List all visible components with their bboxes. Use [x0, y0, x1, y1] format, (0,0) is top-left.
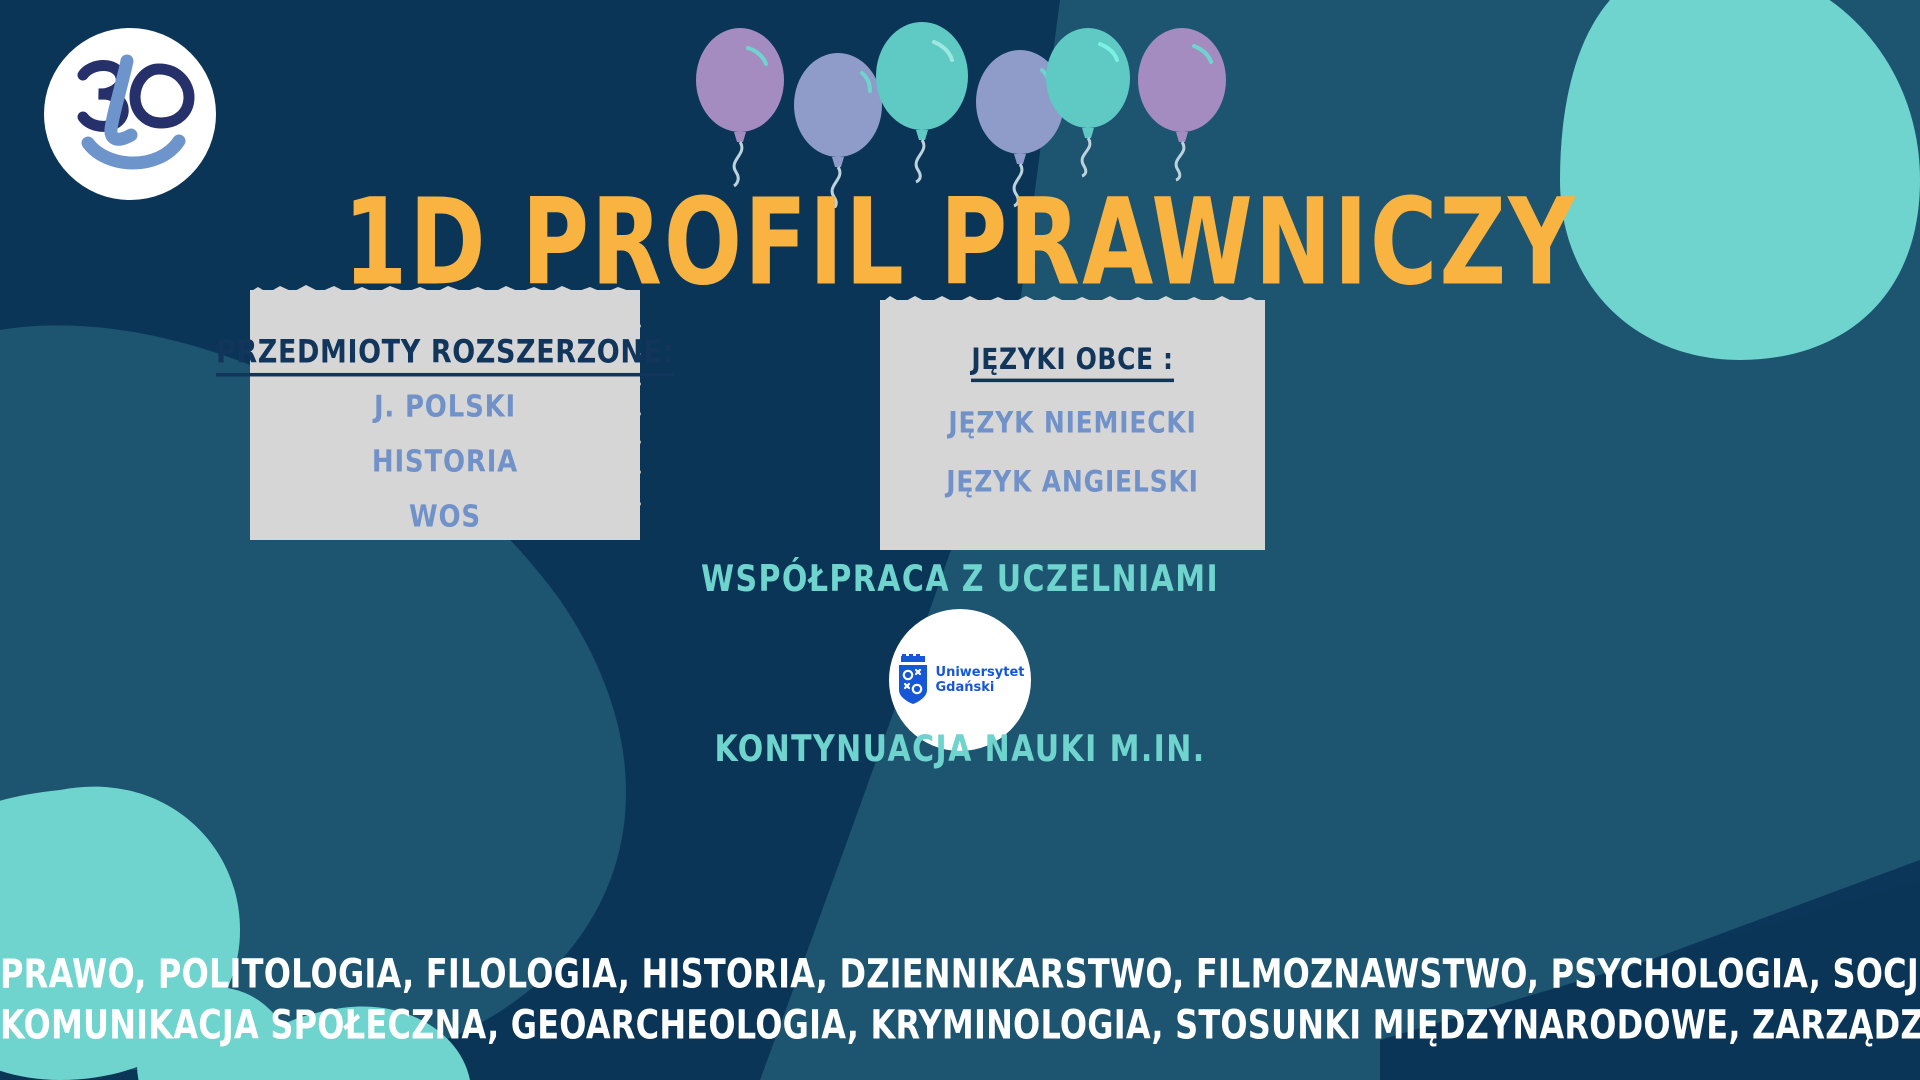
- university-name-line2: Gdański: [936, 680, 1025, 695]
- school-logo: [44, 28, 216, 200]
- balloon-teal-1: [876, 22, 968, 182]
- school-logo-icon: [55, 39, 205, 189]
- card-foreign-languages-list: JĘZYK NIEMIECKI JĘZYK ANGIELSKI: [946, 408, 1198, 526]
- continuation-line-1: PRAWO, POLITOLOGIA, FILOLOGIA, HISTORIA,…: [0, 950, 1920, 997]
- university-name-line1: Uniwersytet: [936, 665, 1025, 680]
- card-extended-subjects-list: J. POLSKI HISTORIA WOS: [372, 392, 518, 557]
- slide-canvas: 1D PROFIL PRAWNICZY PRZEDMIOTY ROZSZERZO…: [0, 0, 1920, 1080]
- card-extended-subjects-heading: PRZEDMIOTY ROZSZERZONE:: [216, 334, 674, 376]
- list-item: WOS: [372, 499, 518, 534]
- balloon-purple-1: [696, 28, 784, 186]
- card-extended-subjects: PRZEDMIOTY ROZSZERZONE: J. POLSKI HISTOR…: [250, 290, 640, 540]
- list-item: J. POLSKI: [372, 389, 518, 424]
- list-item: JĘZYK ANGIELSKI: [946, 464, 1198, 498]
- continuation-line-2: KOMUNIKACJA SPOŁECZNA, GEOARCHEOLOGIA, K…: [0, 1001, 1920, 1048]
- page-title: 1D PROFIL PRAWNICZY: [0, 182, 1920, 304]
- cooperation-heading: WSPÓŁPRACA Z UCZELNIAMI: [0, 558, 1920, 601]
- university-shield-icon: [896, 654, 930, 706]
- list-item: HISTORIA: [372, 444, 518, 479]
- card-foreign-languages-heading: JĘZYKI OBCE :: [971, 342, 1173, 382]
- balloon-teal-2: [1046, 28, 1130, 176]
- continuation-heading: KONTYNUACJA NAUKI M.IN.: [0, 728, 1920, 771]
- list-item: JĘZYK NIEMIECKI: [946, 405, 1198, 439]
- university-name: Uniwersytet Gdański: [936, 665, 1025, 696]
- balloon-purple-2: [1138, 28, 1226, 180]
- card-foreign-languages: JĘZYKI OBCE : JĘZYK NIEMIECKI JĘZYK ANGI…: [880, 300, 1265, 550]
